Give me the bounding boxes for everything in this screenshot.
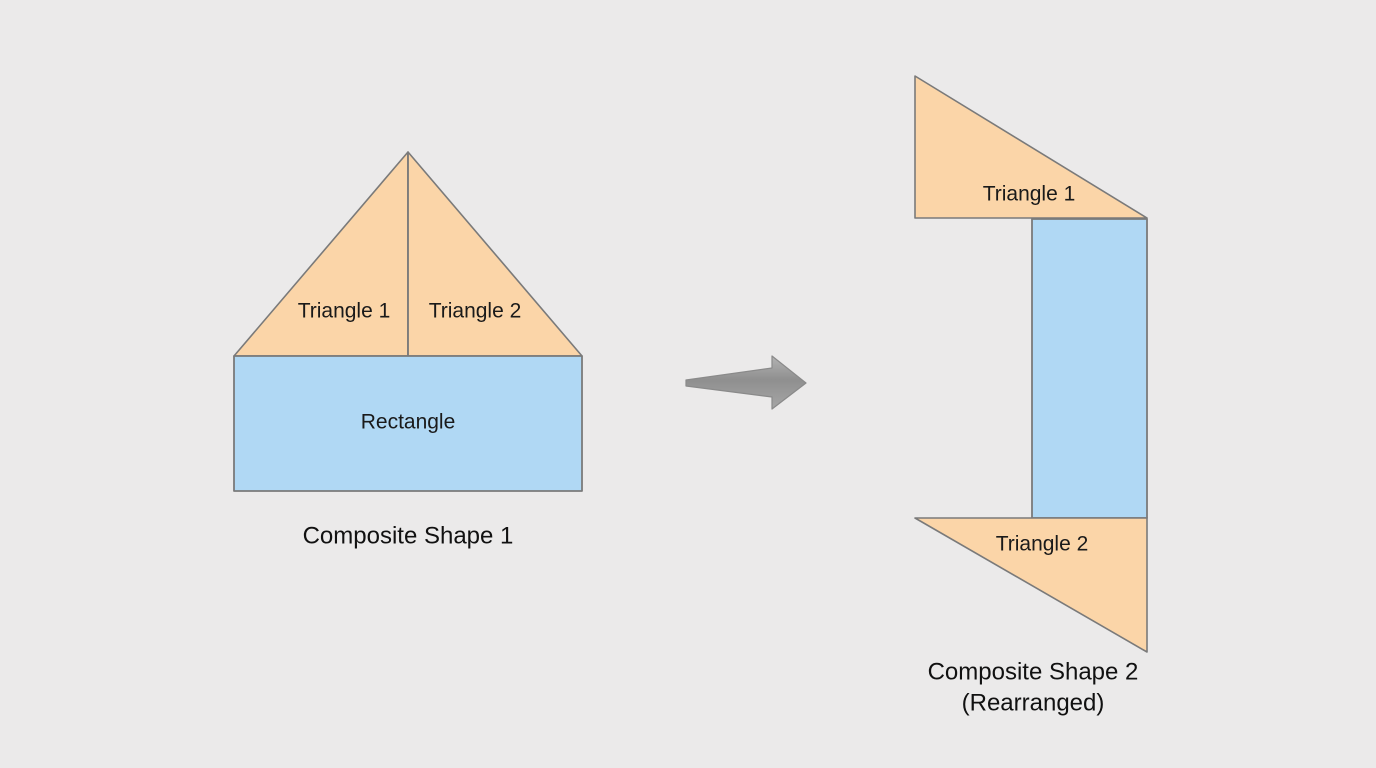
right-figure-caption-line-1: Composite Shape 2: [928, 658, 1139, 685]
left-triangle-2-label: Triangle 2: [429, 300, 522, 323]
diagram-canvas: Triangle 1 Triangle 2 Rectangle Composit…: [0, 0, 1376, 768]
right-rectangle-shape[interactable]: [1032, 219, 1147, 518]
left-figure-caption: Composite Shape 1: [303, 522, 514, 549]
right-figure-caption-line-2: (Rearranged): [962, 689, 1105, 716]
left-triangle-1-label: Triangle 1: [298, 300, 391, 323]
right-triangle-1-label: Triangle 1: [983, 183, 1076, 206]
right-triangle-2-label: Triangle 2: [996, 533, 1089, 556]
left-rectangle-label: Rectangle: [361, 411, 456, 434]
geometry-diagram: Triangle 1 Triangle 2 Rectangle Composit…: [0, 0, 1376, 768]
